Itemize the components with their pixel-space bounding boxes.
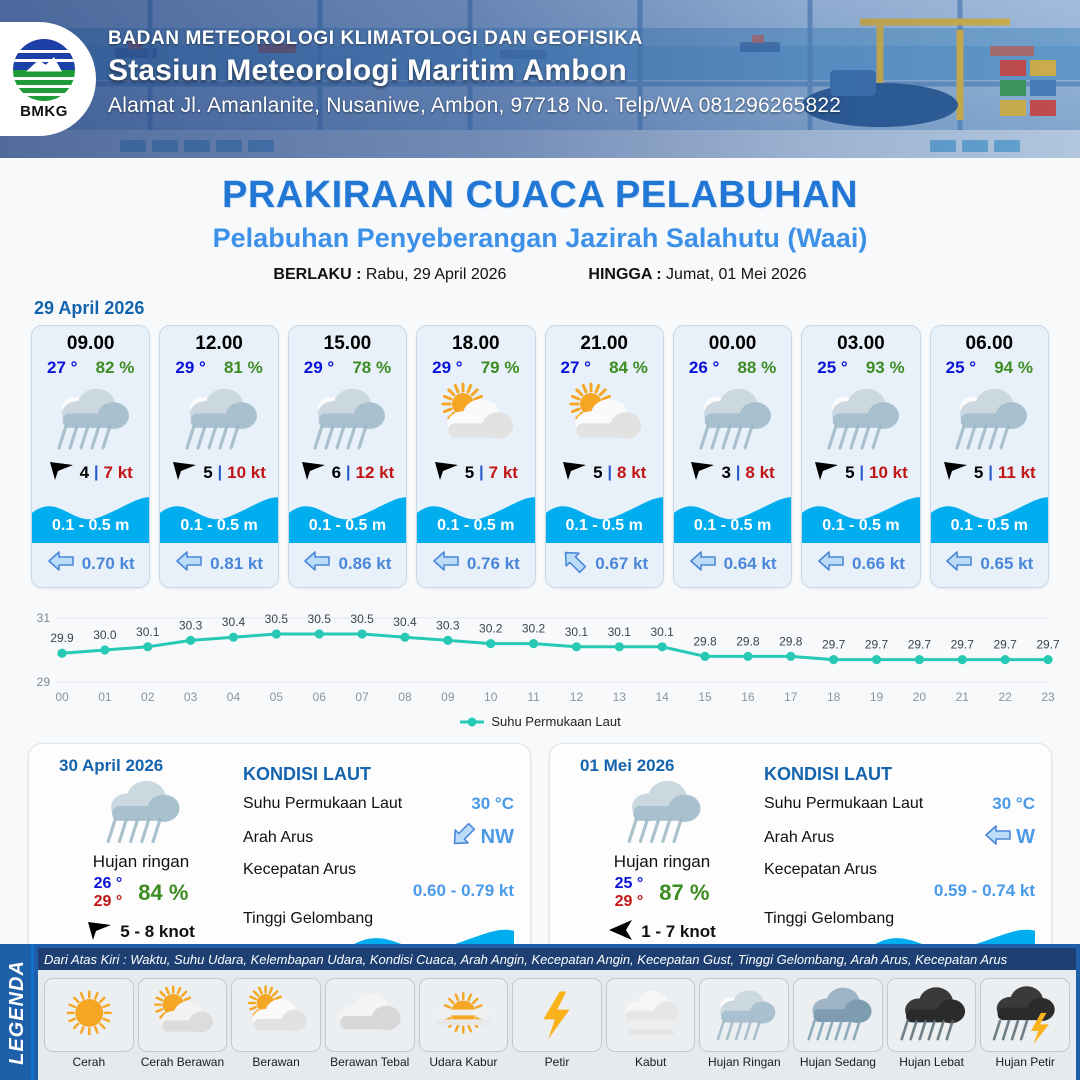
svg-text:05: 05 xyxy=(270,690,284,704)
sea-condition-title: KONDISI LAUT xyxy=(764,764,1035,785)
daily-temp-min: 25 ° xyxy=(615,875,644,893)
wind-separator: | xyxy=(346,464,350,482)
wind-direction-value: 5 xyxy=(593,463,602,483)
legend-item: Udara Kabur xyxy=(419,978,509,1069)
wind-arrow-icon xyxy=(301,459,327,486)
svg-text:29.7: 29.7 xyxy=(865,638,889,652)
svg-text:20: 20 xyxy=(913,690,927,704)
validity-row: BERLAKU : Rabu, 29 April 2026 HINGGA : J… xyxy=(0,266,1080,284)
legend-side-title-text: LEGENDA xyxy=(6,960,29,1065)
wind-arrow-icon xyxy=(562,459,588,486)
forecast-wave: 0.1 - 0.5 m xyxy=(289,491,406,543)
forecast-temperature: 27 ° xyxy=(47,358,77,378)
daily-wind: 1 - 7 knot xyxy=(566,919,758,946)
forecast-temp-humidity: 27 ° 84 % xyxy=(546,357,663,380)
svg-text:31: 31 xyxy=(37,611,51,625)
weather-light-rain-icon xyxy=(32,380,149,456)
forecast-wind: 3 | 8 kt xyxy=(674,456,791,491)
forecast-temperature: 29 ° xyxy=(432,358,462,378)
wind-arrow-icon xyxy=(434,459,460,486)
legend-item-label: Hujan Sedang xyxy=(793,1055,883,1069)
legend-item-label: Cerah Berawan xyxy=(138,1055,228,1069)
daily-wind: 5 - 8 knot xyxy=(45,919,237,946)
svg-text:13: 13 xyxy=(613,690,627,704)
legend-item-label: Cerah xyxy=(44,1055,134,1069)
svg-text:30.3: 30.3 xyxy=(179,618,203,632)
weather-cloudy-icon xyxy=(417,380,534,456)
wave-height-value: 0.1 - 0.5 m xyxy=(32,517,149,535)
sst-row: Suhu Permukaan Laut 30 °C xyxy=(243,794,514,814)
svg-text:30.1: 30.1 xyxy=(136,625,160,639)
legend-item-list: Cerah Cerah Berawan Berawan Berawan Teba… xyxy=(38,970,1076,1080)
legend-side-title: LEGENDA xyxy=(0,944,34,1080)
svg-text:29.7: 29.7 xyxy=(822,638,846,652)
valid-from: BERLAKU : Rabu, 29 April 2026 xyxy=(273,266,506,284)
forecast-card[interactable]: 09.00 27 ° 82 % 4 | 7 kt 0.1 - 0.5 m 0.7… xyxy=(31,325,150,588)
weather-moderate-rain-icon xyxy=(793,978,883,1052)
weather-fog-icon xyxy=(606,978,696,1052)
forecast-current: 0.65 kt xyxy=(931,543,1048,587)
wind-arrow-icon xyxy=(172,459,198,486)
legend-bar: LEGENDA Dari Atas Kiri : Waktu, Suhu Uda… xyxy=(0,944,1080,1080)
forecast-humidity: 82 % xyxy=(96,358,135,378)
wind-arrow-icon xyxy=(608,919,634,946)
weather-sunny-icon xyxy=(44,978,134,1052)
chart-legend-marker-icon xyxy=(459,716,485,728)
wave-height-value: 0.1 - 0.5 m xyxy=(417,517,534,535)
legend-note: Dari Atas Kiri : Waktu, Suhu Udara, Kele… xyxy=(38,948,1076,970)
forecast-temp-humidity: 25 ° 93 % xyxy=(802,357,919,380)
current-arrow-icon xyxy=(560,549,588,578)
wind-direction-value: 6 xyxy=(332,463,341,483)
legend-item-label: Udara Kabur xyxy=(419,1055,509,1069)
forecast-wave: 0.1 - 0.5 m xyxy=(674,491,791,543)
svg-text:30.1: 30.1 xyxy=(650,625,674,639)
current-speed-value: 0.70 kt xyxy=(82,554,135,574)
svg-text:00: 00 xyxy=(55,690,69,704)
chart-legend-label: Suhu Permukaan Laut xyxy=(491,714,620,729)
current-direction-row: Arah Arus W xyxy=(764,823,1035,852)
valid-from-value: Rabu, 29 April 2026 xyxy=(366,266,507,283)
daily-humidity: 84 % xyxy=(138,880,188,906)
wind-direction-value: 5 xyxy=(845,463,854,483)
svg-text:30.5: 30.5 xyxy=(265,612,289,626)
wind-separator: | xyxy=(988,464,992,482)
forecast-wave: 0.1 - 0.5 m xyxy=(32,491,149,543)
forecast-wind: 5 | 10 kt xyxy=(802,456,919,491)
wave-height-value: 0.1 - 0.5 m xyxy=(802,517,919,535)
daily-condition: Hujan ringan xyxy=(566,852,758,872)
wind-arrow-icon xyxy=(814,459,840,486)
current-speed-value: 0.65 kt xyxy=(980,554,1033,574)
current-arrow-icon xyxy=(432,549,460,578)
current-direction-label: Arah Arus xyxy=(243,829,313,847)
legend-item: Hujan Ringan xyxy=(699,978,789,1069)
daily-temperatures: 26 ° 29 ° 84 % xyxy=(45,875,237,911)
weather-lightning-icon xyxy=(512,978,602,1052)
wind-speed-value: 10 kt xyxy=(227,463,266,483)
daily-wind-range: 1 - 7 knot xyxy=(641,922,716,942)
legend-item: Hujan Sedang xyxy=(793,978,883,1069)
legend-item: Cerah Berawan xyxy=(138,978,228,1069)
forecast-temperature: 29 ° xyxy=(175,358,205,378)
wind-direction-value: 5 xyxy=(974,463,983,483)
daily-humidity: 87 % xyxy=(659,880,709,906)
legend-item: Hujan Lebat xyxy=(887,978,977,1069)
current-speed-value: 0.66 kt xyxy=(852,554,905,574)
weather-light-rain-icon xyxy=(45,774,237,848)
svg-text:29.7: 29.7 xyxy=(951,638,975,652)
current-speed-value: 0.67 kt xyxy=(595,554,648,574)
svg-text:30.5: 30.5 xyxy=(350,612,374,626)
sst-row: Suhu Permukaan Laut 30 °C xyxy=(764,794,1035,814)
forecast-card[interactable]: 03.00 25 ° 93 % 5 | 10 kt 0.1 - 0.5 m 0.… xyxy=(801,325,920,588)
current-arrow-icon xyxy=(47,549,75,578)
forecast-humidity: 84 % xyxy=(609,358,648,378)
agency-name: BADAN METEOROLOGI KLIMATOLOGI DAN GEOFIS… xyxy=(108,28,1068,50)
wind-separator: | xyxy=(860,464,864,482)
svg-text:04: 04 xyxy=(227,690,241,704)
svg-text:29.7: 29.7 xyxy=(1036,638,1060,652)
weather-light-rain-icon xyxy=(674,380,791,456)
forecast-wind: 5 | 8 kt xyxy=(546,456,663,491)
daily-temp-min: 26 ° xyxy=(94,875,123,893)
svg-text:29: 29 xyxy=(37,675,51,689)
current-speed-label: Kecepatan Arus xyxy=(764,861,877,879)
current-direction-value: NW xyxy=(481,826,514,849)
forecast-current: 0.70 kt xyxy=(32,543,149,587)
forecast-current: 0.64 kt xyxy=(674,543,791,587)
forecast-temperature: 27 ° xyxy=(561,358,591,378)
legend-item: Petir xyxy=(512,978,602,1069)
forecast-wind: 5 | 7 kt xyxy=(417,456,534,491)
current-speed-value: 0.60 - 0.79 kt xyxy=(243,881,514,901)
station-address: Alamat Jl. Amanlanite, Nusaniwe, Ambon, … xyxy=(108,94,1068,118)
forecast-card[interactable]: 18.00 29 ° 79 % 5 | 7 kt 0.1 - 0.5 m 0.7… xyxy=(416,325,535,588)
wave-height-value: 0.1 - 0.5 m xyxy=(289,517,406,535)
current-arrow-icon xyxy=(984,823,1012,852)
weather-light-rain-icon xyxy=(566,774,758,848)
forecast-current: 0.67 kt xyxy=(546,543,663,587)
weather-haze-icon xyxy=(419,978,509,1052)
weather-thunderstorm-icon xyxy=(980,978,1070,1052)
forecast-humidity: 88 % xyxy=(737,358,776,378)
header-text-block: BADAN METEOROLOGI KLIMATOLOGI DAN GEOFIS… xyxy=(108,28,1068,118)
forecast-wind: 5 | 10 kt xyxy=(160,456,277,491)
forecast-current: 0.81 kt xyxy=(160,543,277,587)
wave-height-value: 0.1 - 0.5 m xyxy=(546,517,663,535)
current-arrow-icon xyxy=(817,549,845,578)
forecast-temp-humidity: 27 ° 82 % xyxy=(32,357,149,380)
forecast-current: 0.76 kt xyxy=(417,543,534,587)
valid-to-value: Jumat, 01 Mei 2026 xyxy=(666,266,807,283)
svg-text:30.1: 30.1 xyxy=(565,625,589,639)
sst-label: Suhu Permukaan Laut xyxy=(764,795,923,813)
svg-text:15: 15 xyxy=(698,690,712,704)
wind-separator: | xyxy=(736,464,740,482)
svg-text:29.9: 29.9 xyxy=(50,631,74,645)
bmkg-logo-text: BMKG xyxy=(8,103,80,120)
forecast-time: 03.00 xyxy=(802,326,919,357)
forecast-temp-humidity: 29 ° 78 % xyxy=(289,357,406,380)
page-subtitle: Pelabuhan Penyeberangan Jazirah Salahutu… xyxy=(0,223,1080,254)
legend-item-label: Kabut xyxy=(606,1055,696,1069)
forecast-temp-humidity: 26 ° 88 % xyxy=(674,357,791,380)
current-speed-value: 0.76 kt xyxy=(467,554,520,574)
sst-chart: 293129.90030.00130.10230.30330.40430.505… xyxy=(18,602,1062,710)
forecast-day-label: 29 April 2026 xyxy=(34,298,1080,319)
forecast-time: 06.00 xyxy=(931,326,1048,357)
wind-arrow-icon xyxy=(690,459,716,486)
forecast-wave: 0.1 - 0.5 m xyxy=(802,491,919,543)
legend-item-label: Berawan Tebal xyxy=(325,1055,415,1069)
current-speed-value: 0.86 kt xyxy=(338,554,391,574)
wind-separator: | xyxy=(94,464,98,482)
page-title: PRAKIRAAN CUACA PELABUHAN xyxy=(0,174,1080,217)
forecast-wave: 0.1 - 0.5 m xyxy=(417,491,534,543)
forecast-card[interactable]: 00.00 26 ° 88 % 3 | 8 kt 0.1 - 0.5 m 0.6… xyxy=(673,325,792,588)
svg-text:30.4: 30.4 xyxy=(222,615,246,629)
daily-temp-max: 29 ° xyxy=(615,893,644,911)
sea-condition-title: KONDISI LAUT xyxy=(243,764,514,785)
forecast-humidity: 93 % xyxy=(866,358,905,378)
legend-item-label: Berawan xyxy=(231,1055,321,1069)
forecast-humidity: 94 % xyxy=(994,358,1033,378)
svg-text:30.2: 30.2 xyxy=(522,622,546,636)
current-direction-value: W xyxy=(1016,826,1035,849)
wind-direction-value: 5 xyxy=(465,463,474,483)
wind-speed-value: 12 kt xyxy=(356,463,395,483)
forecast-humidity: 81 % xyxy=(224,358,263,378)
daily-condition: Hujan ringan xyxy=(45,852,237,872)
forecast-humidity: 78 % xyxy=(352,358,391,378)
weather-heavy-rain-icon xyxy=(887,978,977,1052)
daily-wind-range: 5 - 8 knot xyxy=(120,922,195,942)
forecast-humidity: 79 % xyxy=(481,358,520,378)
svg-text:02: 02 xyxy=(141,690,155,704)
wind-speed-value: 8 kt xyxy=(745,463,774,483)
svg-text:30.1: 30.1 xyxy=(608,625,632,639)
wind-speed-value: 10 kt xyxy=(869,463,908,483)
svg-text:06: 06 xyxy=(313,690,327,704)
forecast-time: 18.00 xyxy=(417,326,534,357)
wave-height-value: 0.1 - 0.5 m xyxy=(160,517,277,535)
sst-chart-svg: 293129.90030.00130.10230.30330.40430.505… xyxy=(18,602,1062,710)
sst-value: 30 °C xyxy=(992,794,1035,814)
forecast-wave: 0.1 - 0.5 m xyxy=(931,491,1048,543)
wind-direction-value: 3 xyxy=(721,463,730,483)
forecast-time: 15.00 xyxy=(289,326,406,357)
forecast-wind: 4 | 7 kt xyxy=(32,456,149,491)
sst-value: 30 °C xyxy=(471,794,514,814)
daily-temp-max: 29 ° xyxy=(94,893,123,911)
forecast-current: 0.66 kt xyxy=(802,543,919,587)
svg-text:08: 08 xyxy=(398,690,412,704)
forecast-time: 00.00 xyxy=(674,326,791,357)
current-arrow-icon xyxy=(689,549,717,578)
forecast-temperature: 25 ° xyxy=(946,358,976,378)
valid-to: HINGGA : Jumat, 01 Mei 2026 xyxy=(588,266,806,284)
daily-date: 01 Mei 2026 xyxy=(580,756,758,776)
current-direction-row: Arah Arus NW xyxy=(243,823,514,852)
current-arrow-icon xyxy=(175,549,203,578)
svg-text:12: 12 xyxy=(570,690,584,704)
svg-text:30.0: 30.0 xyxy=(93,628,117,642)
wind-speed-value: 8 kt xyxy=(617,463,646,483)
page-header: BMKG BADAN METEOROLOGI KLIMATOLOGI DAN G… xyxy=(0,0,1080,158)
svg-text:29.7: 29.7 xyxy=(993,638,1017,652)
wind-separator: | xyxy=(608,464,612,482)
forecast-wave: 0.1 - 0.5 m xyxy=(546,491,663,543)
svg-text:21: 21 xyxy=(956,690,970,704)
current-direction-label: Arah Arus xyxy=(764,829,834,847)
current-speed-value: 0.64 kt xyxy=(724,554,777,574)
wind-separator: | xyxy=(218,464,222,482)
svg-text:29.8: 29.8 xyxy=(693,634,717,648)
svg-text:22: 22 xyxy=(998,690,1012,704)
weather-light-rain-icon xyxy=(699,978,789,1052)
valid-to-label: HINGGA : xyxy=(588,266,661,283)
current-speed-value: 0.59 - 0.74 kt xyxy=(764,881,1035,901)
weather-light-rain-icon xyxy=(802,380,919,456)
weather-light-rain-icon xyxy=(289,380,406,456)
forecast-temperature: 29 ° xyxy=(304,358,334,378)
svg-text:11: 11 xyxy=(527,690,540,704)
legend-item-label: Hujan Lebat xyxy=(887,1055,977,1069)
wind-arrow-icon xyxy=(943,459,969,486)
svg-text:16: 16 xyxy=(741,690,755,704)
forecast-temperature: 25 ° xyxy=(817,358,847,378)
svg-text:30.3: 30.3 xyxy=(436,618,460,632)
forecast-wind: 5 | 11 kt xyxy=(931,456,1048,491)
wind-direction-value: 5 xyxy=(203,463,212,483)
svg-text:29.7: 29.7 xyxy=(908,638,932,652)
current-speed-row: Kecepatan Arus xyxy=(764,861,1035,879)
svg-text:17: 17 xyxy=(784,690,798,704)
sst-label: Suhu Permukaan Laut xyxy=(243,795,402,813)
legend-item-label: Hujan Petir xyxy=(980,1055,1070,1069)
svg-text:03: 03 xyxy=(184,690,198,704)
weather-overcast-icon xyxy=(325,978,415,1052)
svg-text:07: 07 xyxy=(355,690,369,704)
legend-item: Berawan Tebal xyxy=(325,978,415,1069)
svg-text:09: 09 xyxy=(441,690,455,704)
forecast-temp-humidity: 29 ° 79 % xyxy=(417,357,534,380)
legend-item: Berawan xyxy=(231,978,321,1069)
legend-item-label: Petir xyxy=(512,1055,602,1069)
svg-text:14: 14 xyxy=(655,690,669,704)
svg-text:01: 01 xyxy=(98,690,112,704)
daily-date: 30 April 2026 xyxy=(59,756,237,776)
weather-cloudy-icon xyxy=(231,978,321,1052)
svg-text:19: 19 xyxy=(870,690,884,704)
current-arrow-icon xyxy=(303,549,331,578)
svg-text:29.8: 29.8 xyxy=(736,634,760,648)
weather-cloudy-icon xyxy=(546,380,663,456)
forecast-time: 21.00 xyxy=(546,326,663,357)
daily-temperatures: 25 ° 29 ° 87 % xyxy=(566,875,758,911)
wind-arrow-icon xyxy=(49,459,75,486)
forecast-card[interactable]: 15.00 29 ° 78 % 6 | 12 kt 0.1 - 0.5 m 0.… xyxy=(288,325,407,588)
forecast-current: 0.86 kt xyxy=(289,543,406,587)
svg-text:10: 10 xyxy=(484,690,498,704)
svg-text:18: 18 xyxy=(827,690,841,704)
wind-speed-value: 7 kt xyxy=(104,463,133,483)
forecast-wind: 6 | 12 kt xyxy=(289,456,406,491)
legend-item: Cerah xyxy=(44,978,134,1069)
forecast-temp-humidity: 25 ° 94 % xyxy=(931,357,1048,380)
wave-height-value: 0.1 - 0.5 m xyxy=(931,517,1048,535)
wind-arrow-icon xyxy=(87,919,113,946)
current-speed-row: Kecepatan Arus xyxy=(243,861,514,879)
forecast-wave: 0.1 - 0.5 m xyxy=(160,491,277,543)
bmkg-logo-icon xyxy=(13,39,75,101)
wind-speed-value: 7 kt xyxy=(489,463,518,483)
forecast-time: 12.00 xyxy=(160,326,277,357)
weather-light-rain-icon xyxy=(160,380,277,456)
current-speed-label: Kecepatan Arus xyxy=(243,861,356,879)
wind-separator: | xyxy=(479,464,483,482)
wave-height-value: 0.1 - 0.5 m xyxy=(674,517,791,535)
weather-partly-cloudy-icon xyxy=(138,978,228,1052)
current-speed-value: 0.81 kt xyxy=(210,554,263,574)
svg-text:30.4: 30.4 xyxy=(393,615,417,629)
forecast-card[interactable]: 06.00 25 ° 94 % 5 | 11 kt 0.1 - 0.5 m 0.… xyxy=(930,325,1049,588)
svg-text:29.8: 29.8 xyxy=(779,634,803,648)
hourly-forecast-list: 09.00 27 ° 82 % 4 | 7 kt 0.1 - 0.5 m 0.7… xyxy=(0,325,1080,588)
svg-text:30.2: 30.2 xyxy=(479,622,503,636)
legend-item: Kabut xyxy=(606,978,696,1069)
svg-text:23: 23 xyxy=(1041,690,1055,704)
chart-legend: Suhu Permukaan Laut xyxy=(0,714,1080,729)
legend-item-label: Hujan Ringan xyxy=(699,1055,789,1069)
forecast-card[interactable]: 12.00 29 ° 81 % 5 | 10 kt 0.1 - 0.5 m 0.… xyxy=(159,325,278,588)
station-name: Stasiun Meteorologi Maritim Ambon xyxy=(108,54,1068,88)
legend-item: Hujan Petir xyxy=(980,978,1070,1069)
forecast-temperature: 26 ° xyxy=(689,358,719,378)
wind-direction-value: 4 xyxy=(80,463,89,483)
wind-speed-value: 11 kt xyxy=(998,463,1036,483)
weather-light-rain-icon xyxy=(931,380,1048,456)
forecast-card[interactable]: 21.00 27 ° 84 % 5 | 8 kt 0.1 - 0.5 m 0.6… xyxy=(545,325,664,588)
current-arrow-icon xyxy=(945,549,973,578)
svg-text:30.5: 30.5 xyxy=(308,612,332,626)
forecast-temp-humidity: 29 ° 81 % xyxy=(160,357,277,380)
forecast-time: 09.00 xyxy=(32,326,149,357)
valid-from-label: BERLAKU : xyxy=(273,266,361,283)
current-arrow-icon xyxy=(449,823,477,852)
